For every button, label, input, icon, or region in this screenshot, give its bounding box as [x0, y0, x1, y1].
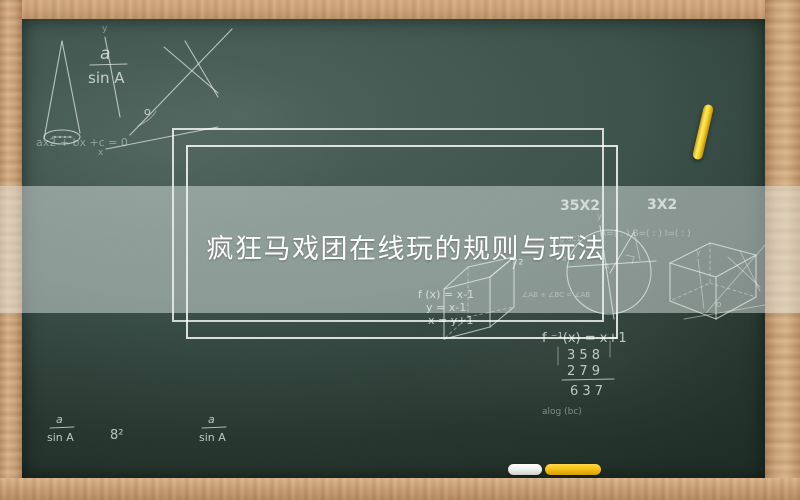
- inverse-function-and-subtraction: f ⁻¹(x) = x+1 3 5 8 2 7 9 6 3 7: [542, 331, 627, 399]
- svg-text:a: a: [56, 413, 63, 426]
- svg-text:6 3 7: 6 3 7: [570, 384, 603, 399]
- svg-text:sin A: sin A: [88, 69, 125, 87]
- svg-text:o: o: [144, 105, 151, 118]
- svg-text:2 7 9: 2 7 9: [567, 364, 600, 379]
- fraction-a-over-sinA-bottom-center: a sin A: [199, 413, 226, 444]
- wooden-frame-top: [0, 0, 800, 19]
- svg-text:y: y: [102, 24, 108, 34]
- title-overlay-band: 疯狂马戏团在线玩的规则与玩法: [0, 186, 800, 313]
- quadratic-equation: ax2 + bx +c = 0: [36, 136, 128, 149]
- svg-text:x: x: [98, 148, 104, 158]
- svg-text:sin A: sin A: [199, 431, 226, 444]
- eight-squared: 8²: [110, 428, 123, 443]
- cone-drawing: [44, 41, 80, 144]
- page-title: 疯狂马戏团在线玩的规则与玩法: [207, 236, 606, 263]
- fraction-a-over-sinA-bottom-left: a sin A: [47, 413, 74, 444]
- chalk-stick-upright-yellow: [692, 104, 714, 161]
- svg-text:a: a: [100, 44, 110, 64]
- wooden-frame-bottom: [0, 478, 800, 500]
- chalk-stick-yellow: [545, 464, 601, 475]
- screenshot-stage: a sin A y x o ax2 + bx +c = 0: [0, 0, 800, 500]
- alog-label: alog (bc): [542, 407, 582, 417]
- svg-text:sin A: sin A: [47, 431, 74, 444]
- fraction-a-over-sinA-topleft: a sin A: [88, 44, 127, 87]
- chalk-stick-white: [508, 464, 542, 475]
- svg-text:a: a: [208, 413, 215, 426]
- svg-text:3 5 8: 3 5 8: [567, 348, 600, 363]
